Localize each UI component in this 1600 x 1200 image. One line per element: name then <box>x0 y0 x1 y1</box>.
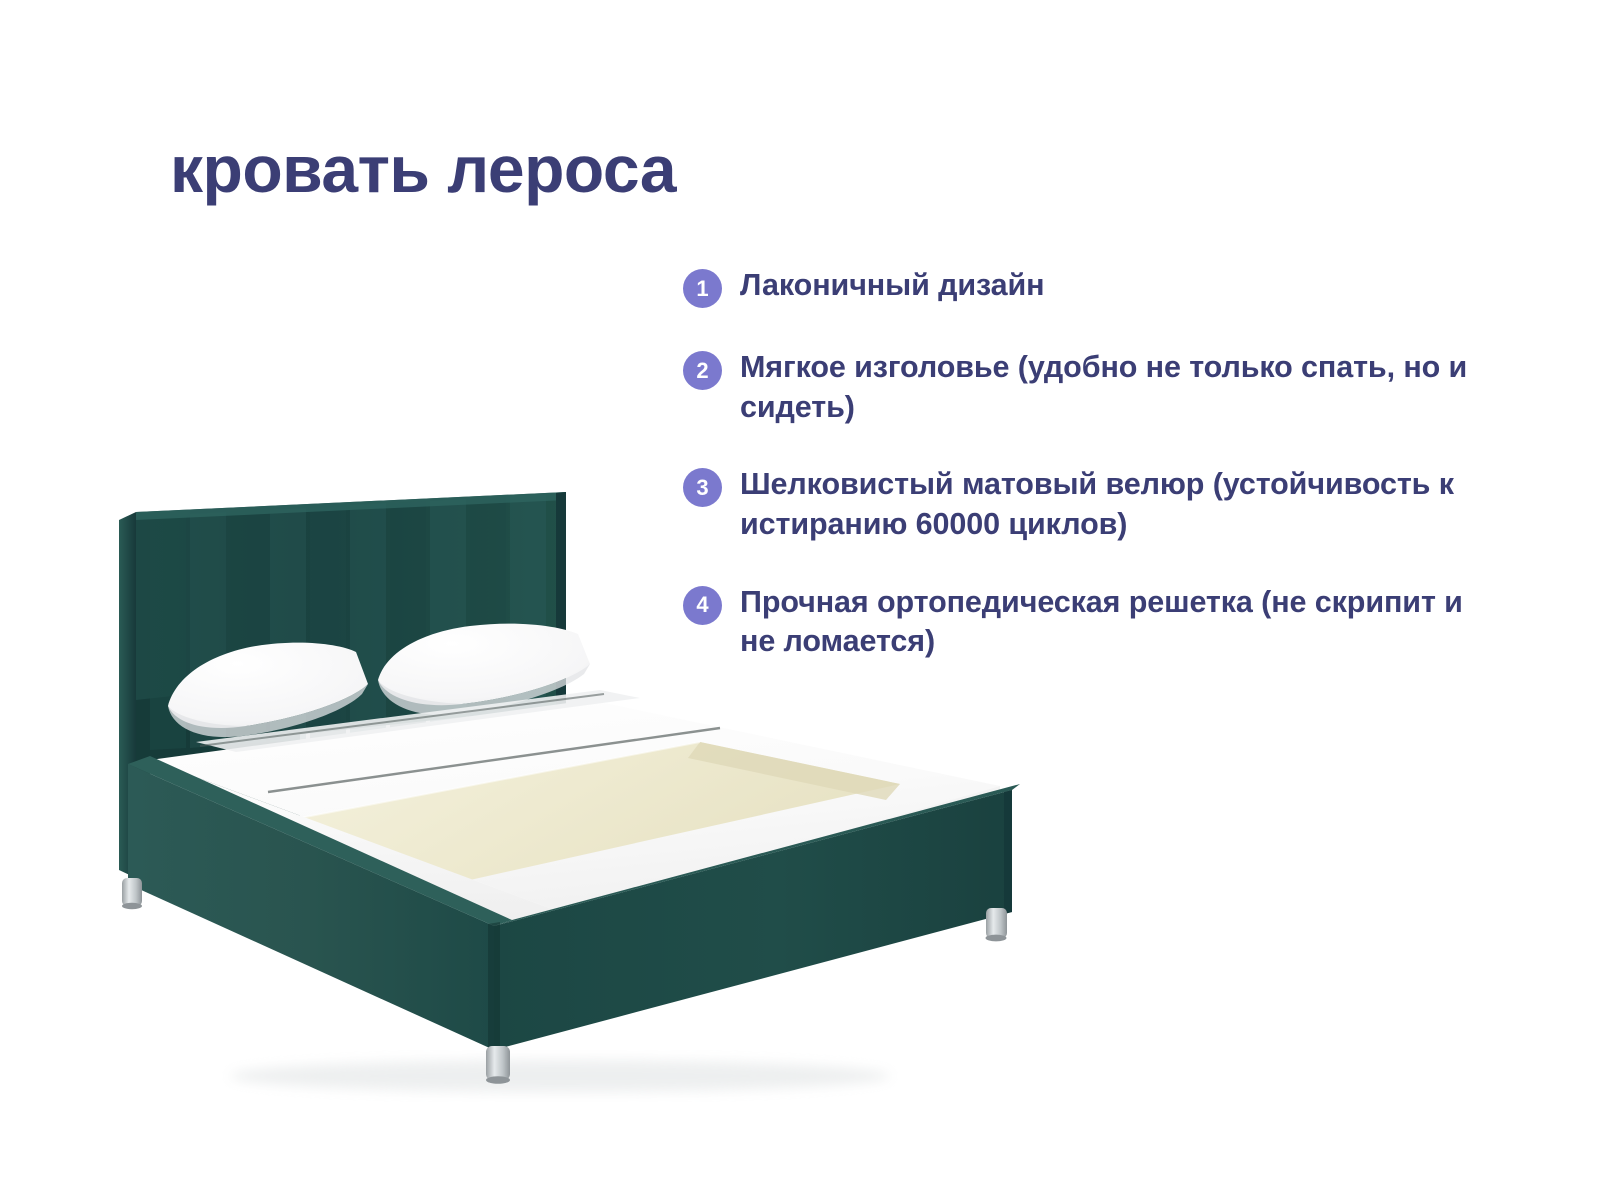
headboard-lower-extension <box>136 682 300 880</box>
feature-text-1: Лаконичный дизайн <box>740 266 1045 306</box>
feature-list: 1 Лаконичный дизайн 2 Мягкое изголовье (… <box>683 266 1493 662</box>
floor-shadow <box>230 1060 890 1092</box>
feature-item-3: 3 Шелковистый матовый велюр (устойчивост… <box>683 465 1493 544</box>
sheet-fold-line <box>200 694 604 746</box>
frame-rail-left <box>128 764 494 1050</box>
feature-badge-3: 3 <box>683 468 722 507</box>
pillow-right <box>378 624 590 715</box>
leg-right <box>986 908 1008 941</box>
leg-front-corner <box>486 1046 510 1084</box>
sheet-fold <box>196 690 640 752</box>
feature-badge-2: 2 <box>683 351 722 390</box>
mattress-side-right <box>560 786 1000 946</box>
feature-text-4: Прочная ортопедическая решетка (не скрип… <box>740 583 1493 662</box>
page-title: кровать лероса <box>170 136 676 202</box>
headboard-front-face <box>136 492 566 752</box>
frame-rail-foot <box>494 790 1012 1050</box>
feature-text-2: Мягкое изголовье (удобно не только спать… <box>740 348 1493 427</box>
mattress-top <box>150 700 1000 912</box>
sheet-fold-line-2 <box>268 728 720 792</box>
feature-badge-4: 4 <box>683 586 722 625</box>
headboard-panels <box>150 494 546 750</box>
frame-rail-left-top <box>128 756 512 926</box>
leg-front-left <box>122 878 142 909</box>
throw-blanket <box>300 742 900 900</box>
mattress-side-left <box>150 760 560 946</box>
feature-item-1: 1 Лаконичный дизайн <box>683 266 1493 308</box>
frame-corner-edge <box>488 922 500 1050</box>
headboard-right-edge <box>556 492 566 709</box>
feature-badge-1: 1 <box>683 269 722 308</box>
headboard-seams <box>188 494 548 747</box>
feature-item-2: 2 Мягкое изголовье (удобно не только спа… <box>683 348 1493 427</box>
infographic-canvas: кровать лероса <box>0 0 1600 1200</box>
frame-rail-foot-top <box>494 784 1020 926</box>
headboard-side-face <box>119 512 136 878</box>
feature-text-3: Шелковистый матовый велюр (устойчивость … <box>740 465 1493 544</box>
feature-item-4: 4 Прочная ортопедическая решетка (не скр… <box>683 583 1493 662</box>
headboard-top-edge <box>136 492 566 520</box>
frame-right-corner <box>1004 790 1012 914</box>
pillow-left <box>168 643 368 737</box>
